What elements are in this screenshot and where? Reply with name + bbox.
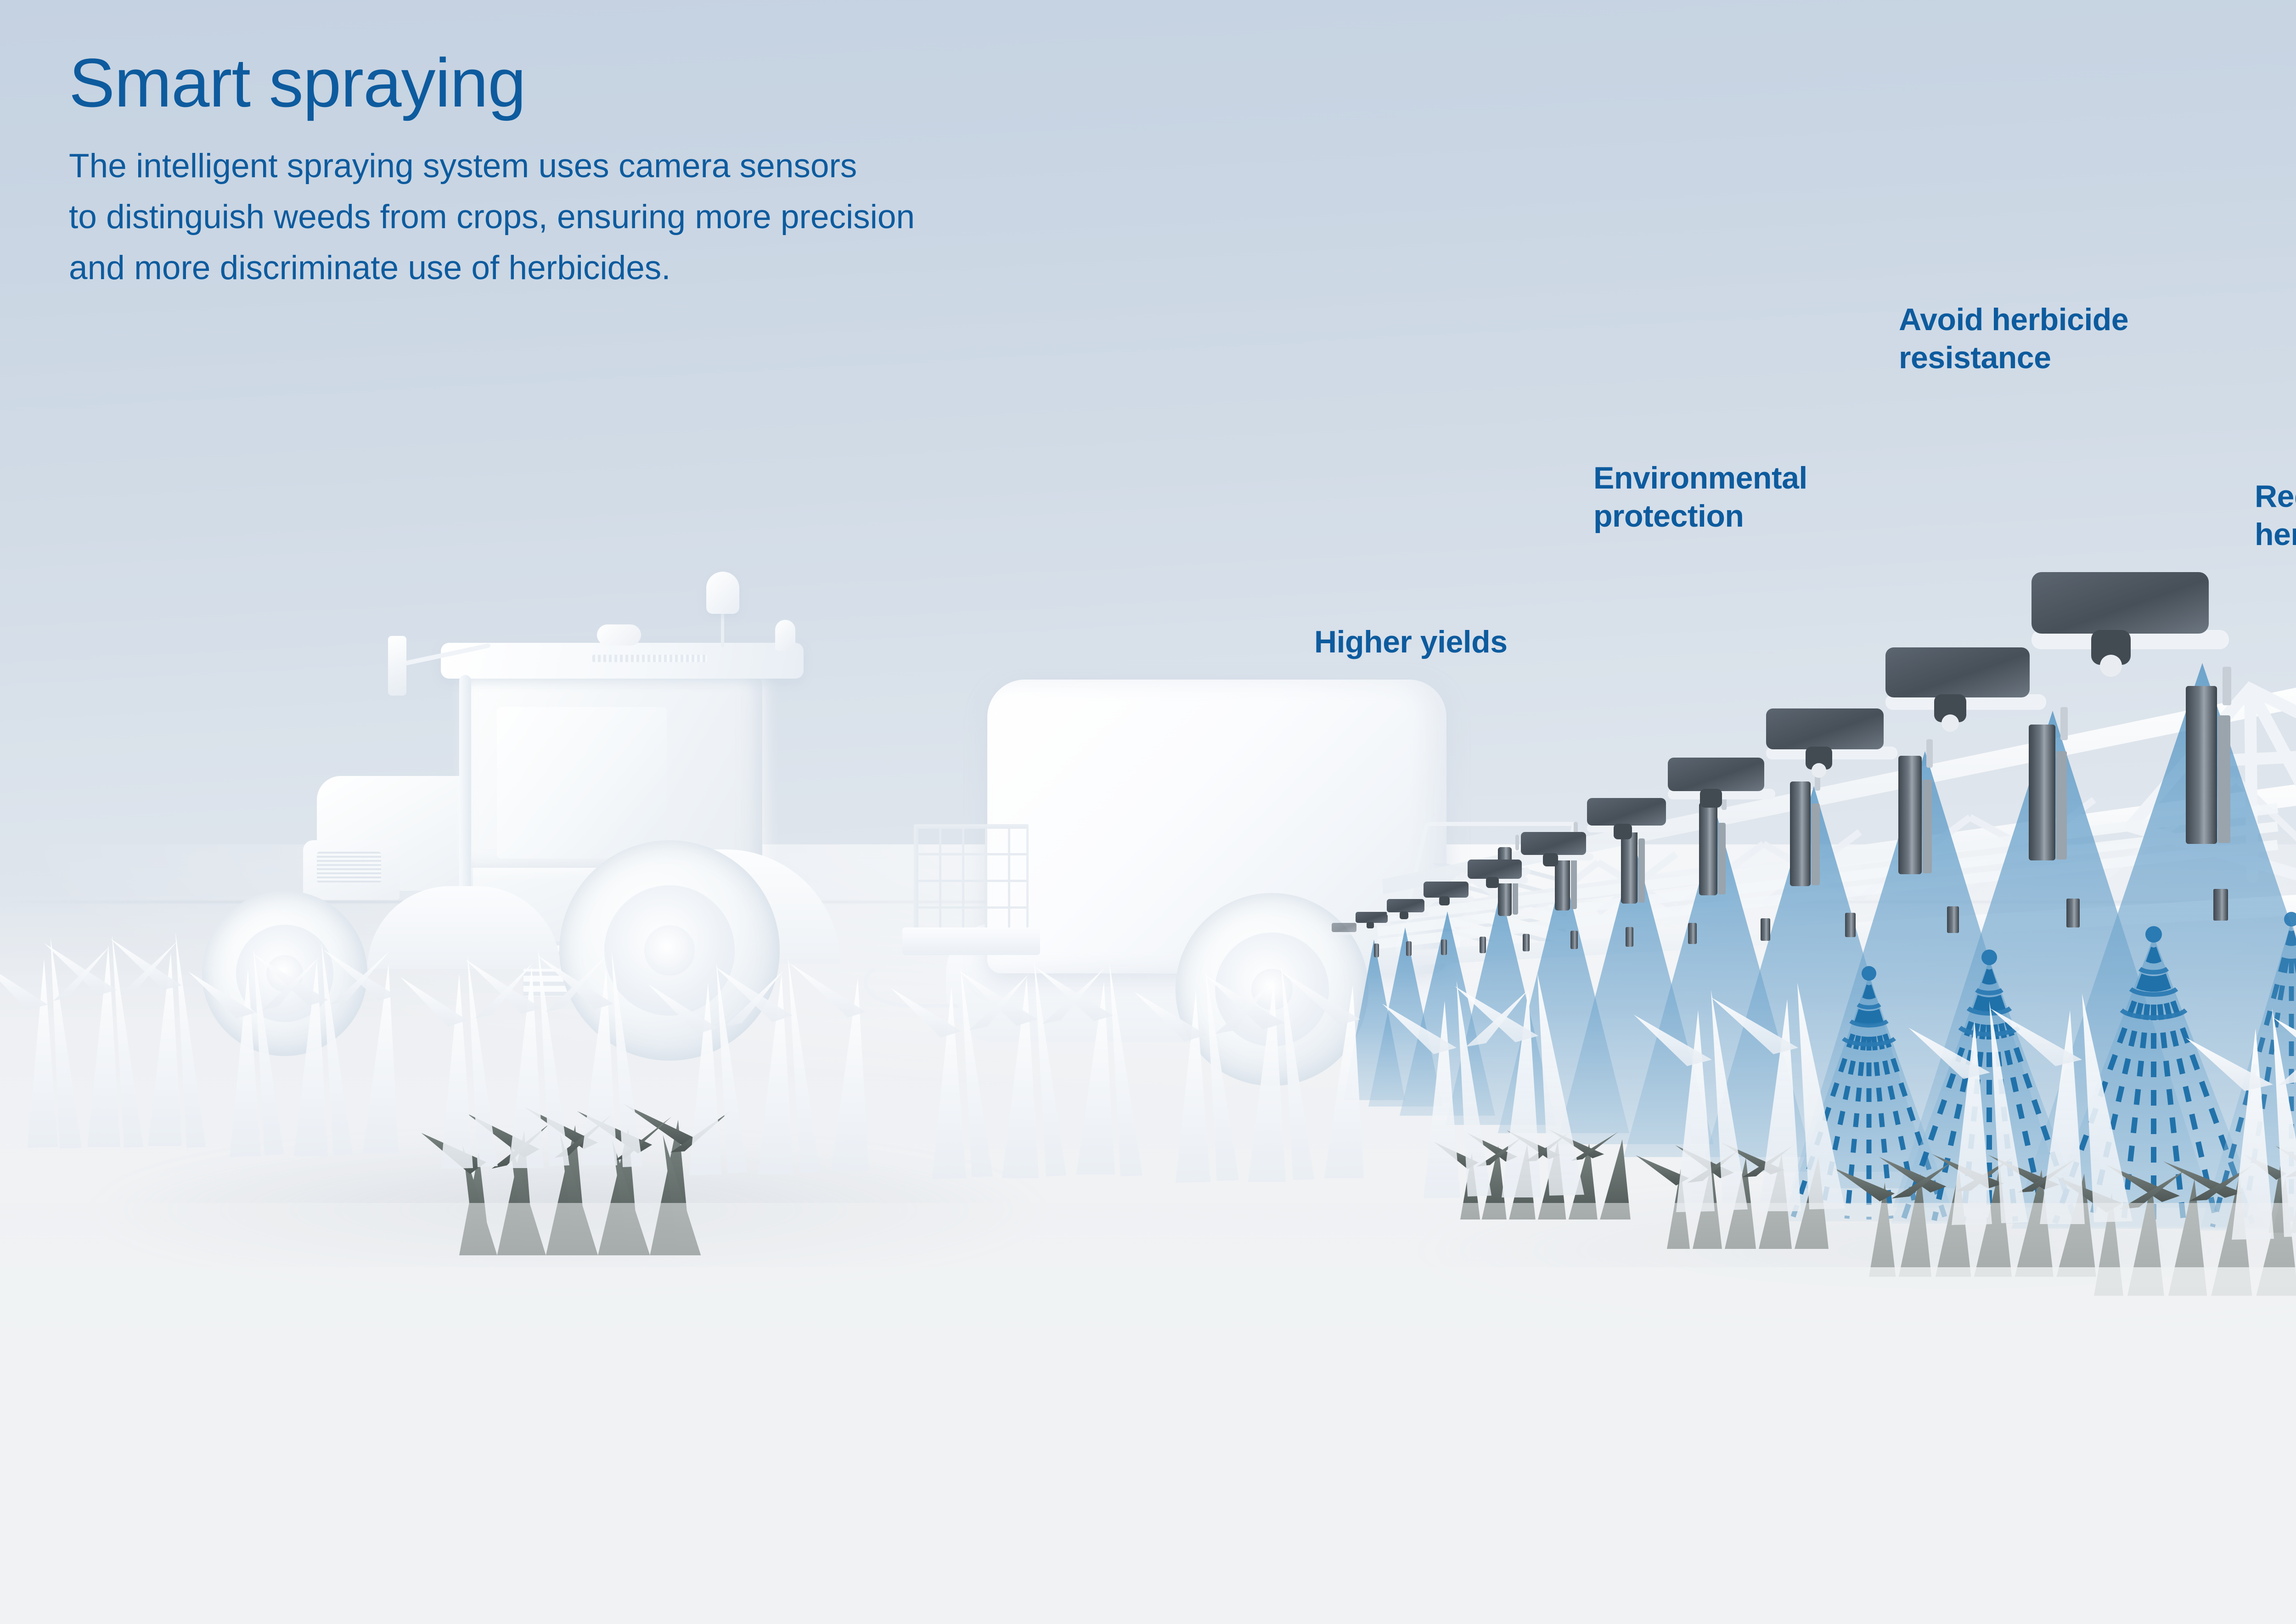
callout-reduced-herbicide-use-line-1: Reduced: [2255, 478, 2296, 516]
subtitle-line-1: The intelligent spraying system uses cam…: [69, 141, 1401, 192]
callout-avoid-herbicide-resistance: Avoid herbicide resistance: [1899, 301, 2128, 377]
callout-avoid-herbicide-resistance-line-2: resistance: [1899, 339, 2128, 377]
callout-environmental-protection-line-2: protection: [1593, 497, 1807, 535]
callout-reduced-herbicide-use-line-2: herbicide use: [2255, 516, 2296, 554]
page-title: Smart spraying: [69, 48, 1401, 117]
callout-avoid-herbicide-resistance-line-1: Avoid herbicide: [1899, 301, 2128, 339]
page-subtitle: The intelligent spraying system uses cam…: [69, 141, 1401, 294]
infographic-canvas: Smart spraying The intelligent spraying …: [0, 0, 2296, 1624]
subtitle-line-2: to distinguish weeds from crops, ensurin…: [69, 192, 1401, 243]
subtitle-line-3: and more discriminate use of herbicides.: [69, 243, 1401, 294]
header-text-block: Smart spraying The intelligent spraying …: [69, 48, 1401, 294]
callout-environmental-protection-line-1: Environmental: [1593, 459, 1807, 497]
callout-environmental-protection: Environmental protection: [1593, 459, 1807, 535]
callout-reduced-herbicide-use: Reduced herbicide use: [2255, 478, 2296, 554]
callout-higher-yields: Higher yields: [1314, 623, 1508, 661]
callout-higher-yields-line-1: Higher yields: [1314, 623, 1508, 661]
